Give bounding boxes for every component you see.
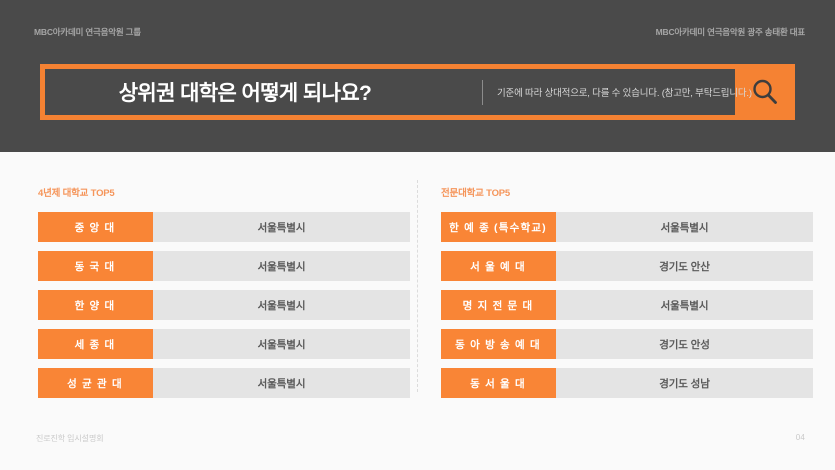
search-button[interactable] xyxy=(735,64,795,120)
search-note-text: 기준에 따라 상대적으로, 다를 수 있습니다. (참고만, 부탁드립니다.) xyxy=(497,69,752,115)
university-region: 서울특별시 xyxy=(153,212,410,242)
search-question-text: 상위권 대학은 어떻게 되나요? xyxy=(45,69,445,115)
table-row[interactable]: 서 울 예 대 경기도 안산 xyxy=(441,251,813,281)
table-row[interactable]: 한 양 대 서울특별시 xyxy=(38,290,410,320)
university-region: 서울특별시 xyxy=(153,329,410,359)
university-name: 동 서 울 대 xyxy=(441,368,556,398)
search-bar[interactable]: 상위권 대학은 어떻게 되나요? 기준에 따라 상대적으로, 다를 수 있습니다… xyxy=(40,64,795,120)
column-title-right: 전문대학교 TOP5 xyxy=(441,185,510,199)
university-region: 서울특별시 xyxy=(153,251,410,281)
footer: 진로진학 입시설명회 04 xyxy=(0,425,835,470)
table-row[interactable]: 한 예 종 (특수학교) 서울특별시 xyxy=(441,212,813,242)
university-name: 한 양 대 xyxy=(38,290,153,320)
search-input[interactable]: 상위권 대학은 어떻게 되나요? 기준에 따라 상대적으로, 다를 수 있습니다… xyxy=(45,69,735,115)
university-region: 경기도 안성 xyxy=(556,329,813,359)
table-row[interactable]: 명 지 전 문 대 서울특별시 xyxy=(441,290,813,320)
university-name: 동 아 방 송 예 대 xyxy=(441,329,556,359)
university-name: 성 균 관 대 xyxy=(38,368,153,398)
university-name: 동 국 대 xyxy=(38,251,153,281)
footer-label: 진로진학 입시설명회 xyxy=(36,433,103,444)
table-row[interactable]: 동 국 대 서울특별시 xyxy=(38,251,410,281)
content-area: 4년제 대학교 TOP5 중 앙 대 서울특별시 동 국 대 서울특별시 한 양… xyxy=(0,152,835,417)
table-row[interactable]: 중 앙 대 서울특별시 xyxy=(38,212,410,242)
university-name: 세 종 대 xyxy=(38,329,153,359)
university-region: 서울특별시 xyxy=(556,212,813,242)
header-bar: MBC아카데미 연극음악원 그룹 MBC아카데미 연극음악원 광주 송태환 대표… xyxy=(0,0,835,152)
university-region: 서울특별시 xyxy=(556,290,813,320)
university-region: 서울특별시 xyxy=(153,368,410,398)
university-name: 한 예 종 (특수학교) xyxy=(441,212,556,242)
university-name: 명 지 전 문 대 xyxy=(441,290,556,320)
table-row[interactable]: 동 서 울 대 경기도 성남 xyxy=(441,368,813,398)
university-region: 경기도 성남 xyxy=(556,368,813,398)
table-row[interactable]: 세 종 대 서울특별시 xyxy=(38,329,410,359)
table-row[interactable]: 성 균 관 대 서울특별시 xyxy=(38,368,410,398)
university-name: 서 울 예 대 xyxy=(441,251,556,281)
column-title-left: 4년제 대학교 TOP5 xyxy=(38,185,115,199)
university-name: 중 앙 대 xyxy=(38,212,153,242)
search-icon xyxy=(750,77,780,107)
ranking-list-right: 한 예 종 (특수학교) 서울특별시 서 울 예 대 경기도 안산 명 지 전 … xyxy=(441,212,813,407)
university-region: 서울특별시 xyxy=(153,290,410,320)
slide: MBC아카데미 연극음악원 그룹 MBC아카데미 연극음악원 광주 송태환 대표… xyxy=(0,0,835,470)
brand-right-label: MBC아카데미 연극음악원 광주 송태환 대표 xyxy=(656,26,805,38)
university-region: 경기도 안산 xyxy=(556,251,813,281)
search-divider xyxy=(482,80,483,105)
column-divider xyxy=(417,180,418,392)
table-row[interactable]: 동 아 방 송 예 대 경기도 안성 xyxy=(441,329,813,359)
ranking-list-left: 중 앙 대 서울특별시 동 국 대 서울특별시 한 양 대 서울특별시 세 종 … xyxy=(38,212,410,407)
footer-page-number: 04 xyxy=(796,433,805,442)
brand-left-label: MBC아카데미 연극음악원 그룹 xyxy=(34,26,141,38)
